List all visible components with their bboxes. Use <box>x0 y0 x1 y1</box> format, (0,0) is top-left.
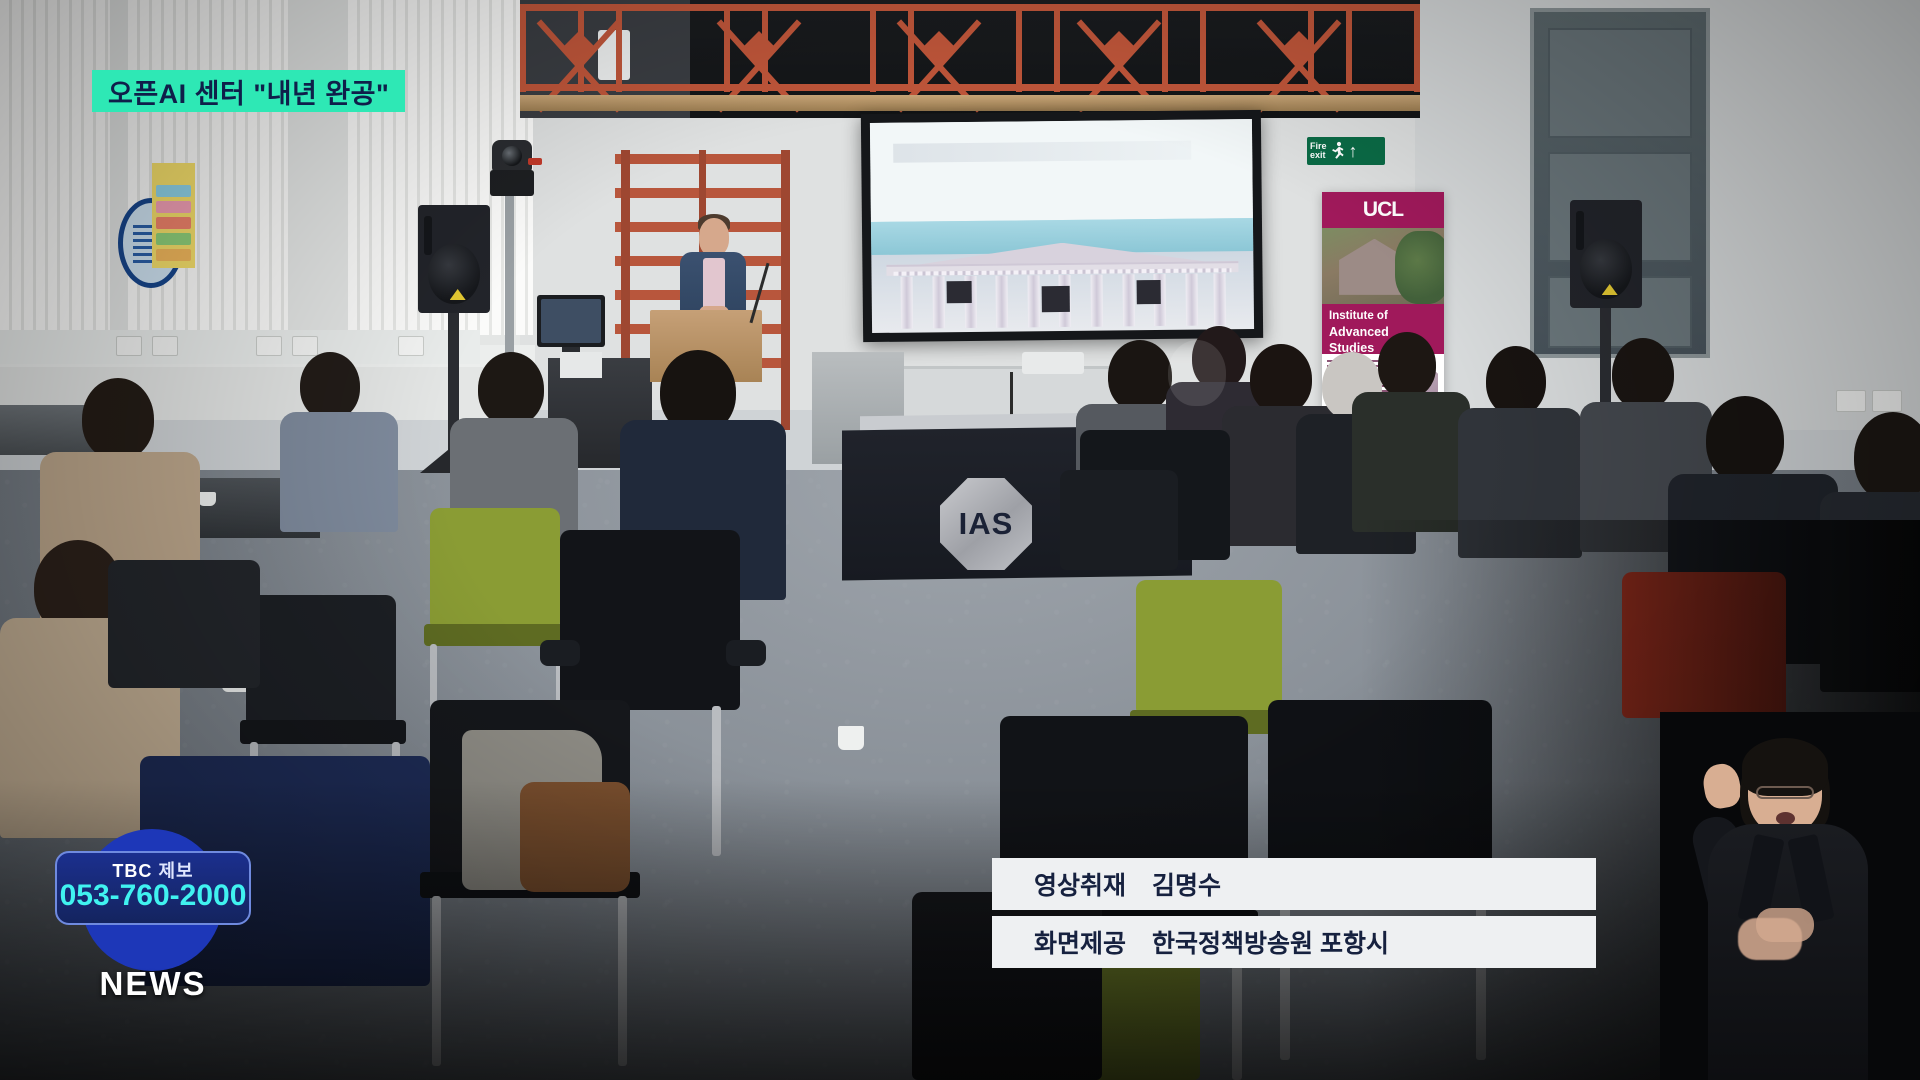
pa-speaker-left <box>418 205 490 313</box>
headline-banner: 오픈AI 센터 "내년 완공" <box>92 70 405 112</box>
video-frame: Fire exit ↑ <box>0 0 1920 1080</box>
stage-monitor <box>537 295 605 347</box>
wall-socket-strip <box>0 330 480 364</box>
window-blind <box>0 0 110 345</box>
headline-text: 오픈AI 센터 "내년 완공" <box>108 72 389 111</box>
fire-exit-label-2: exit <box>1310 151 1327 161</box>
program-name: NEWS <box>55 965 251 1003</box>
interpreter-raised-hand <box>1700 761 1743 811</box>
credit-label: 영상취재 <box>1034 866 1126 902</box>
credits-block: 영상취재 김명수 화면제공 한국정책방송원 포항시 <box>992 858 1596 974</box>
presenter-head <box>699 218 729 256</box>
paper-cup <box>198 492 216 506</box>
credit-value: 김명수 <box>1152 866 1221 902</box>
mezzanine <box>520 0 1420 118</box>
wall-socket-right <box>1836 390 1866 412</box>
projected-slide <box>870 119 1254 333</box>
ucl-title-line1: Institute of <box>1329 309 1437 324</box>
credit-row: 영상취재 김명수 <box>992 858 1596 910</box>
ucl-logo: UCL <box>1363 198 1403 222</box>
credit-value: 한국정책방송원 포항시 <box>1152 924 1389 960</box>
tbc-wordmark: TBC <box>112 861 152 881</box>
tip-line-plate: TBC 제보 053-760-2000 <box>55 851 251 925</box>
credit-label: 화면제공 <box>1034 924 1126 960</box>
tip-word: 제보 <box>158 861 193 881</box>
broadcast-screen: Fire exit ↑ <box>0 0 1920 1080</box>
wall-socket-right-2 <box>1872 390 1902 412</box>
railing-bar <box>520 4 1420 11</box>
ptz-camera <box>492 140 532 172</box>
window-left-1 <box>0 0 110 345</box>
running-man-icon <box>1330 141 1346 161</box>
sign-language-interpreter <box>1660 712 1920 1080</box>
interpreter-signing-hand-2 <box>1756 908 1814 942</box>
pa-speaker-right <box>1570 200 1642 308</box>
projection-screen <box>861 110 1263 342</box>
fire-exit-sign: Fire exit ↑ <box>1307 137 1385 165</box>
glasses-icon <box>1756 786 1814 799</box>
projector <box>1022 352 1084 374</box>
wall-poster-yellow <box>152 163 195 268</box>
camera-mount <box>490 170 534 196</box>
camera-accent <box>528 158 542 165</box>
credit-row: 화면제공 한국정책방송원 포항시 <box>992 916 1596 968</box>
mezzanine-ledge <box>520 95 1420 111</box>
tip-phone-number: 053-760-2000 <box>57 879 249 913</box>
mic-stand <box>1010 372 1013 420</box>
up-arrow-icon: ↑ <box>1349 142 1358 160</box>
station-bug: TBC 제보 053-760-2000 NEWS <box>55 825 255 1005</box>
ucl-banner-photo <box>1322 228 1444 304</box>
cabinet-label <box>560 352 602 378</box>
ucl-logo-band: UCL <box>1322 192 1444 228</box>
paper-cup <box>838 726 864 750</box>
